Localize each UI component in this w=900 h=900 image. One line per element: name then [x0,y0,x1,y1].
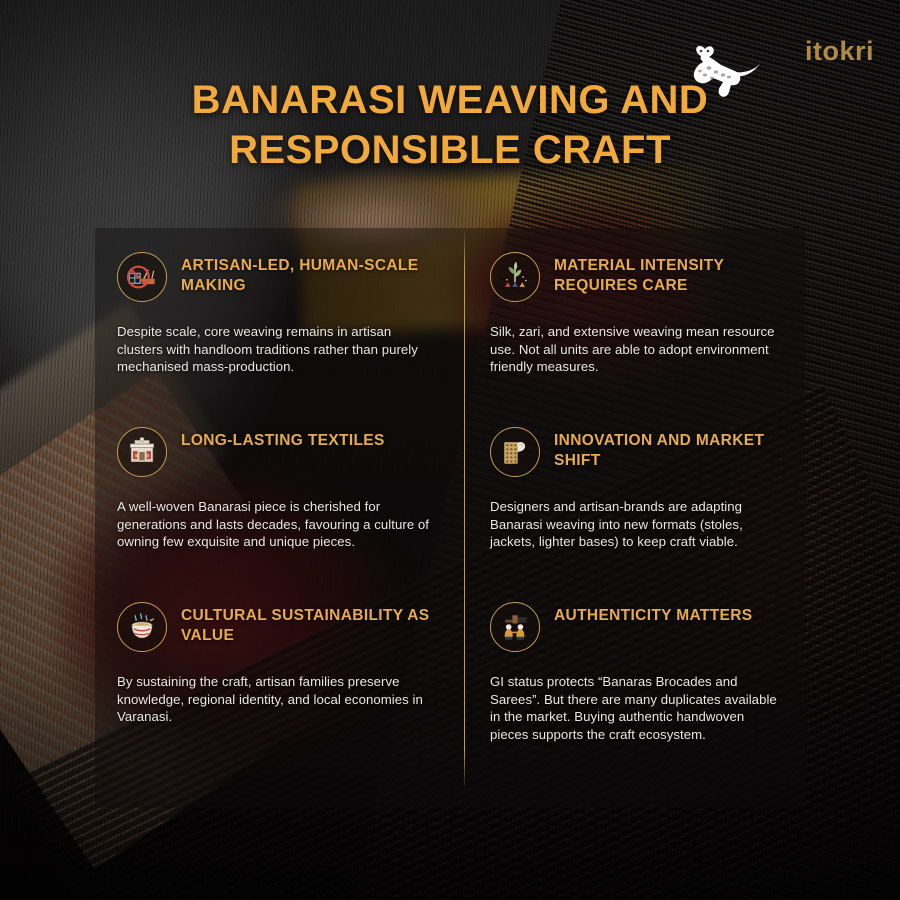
no-machine-loom-icon [117,252,167,302]
card-body: Silk, zari, and extensive weaving mean r… [490,323,779,376]
two-artisans-at-loom-icon [490,602,540,652]
card-title: MATERIAL INTENSITY REQUIRES CARE [554,250,779,296]
card-title: ARTISAN-LED, HUMAN-SCALE MAKING [181,250,438,296]
page-title: BANARASI WEAVING AND RESPONSIBLE CRAFT [0,76,900,175]
cards-grid: ARTISAN-LED, HUMAN-SCALE MAKING Despite … [95,228,805,808]
card-innovation-market-shift: INNOVATION AND MARKET SHIFT Designers an… [464,403,805,578]
brand-logo-text: itokri [764,34,874,68]
card-header: LONG-LASTING TEXTILES [117,425,438,477]
card-artisan-led: ARTISAN-LED, HUMAN-SCALE MAKING Despite … [95,228,464,403]
card-material-intensity: MATERIAL INTENSITY REQUIRES CARE Silk, z… [464,228,805,403]
card-title: CULTURAL SUSTAINABILITY AS VALUE [181,600,438,646]
card-cultural-sustainability: CULTURAL SUSTAINABILITY AS VALUE By sust… [95,578,464,808]
card-header: CULTURAL SUSTAINABILITY AS VALUE [117,600,438,652]
card-long-lasting-textiles: LONG-LASTING TEXTILES A well-woven Banar… [95,403,464,578]
card-title: LONG-LASTING TEXTILES [181,425,385,451]
card-header: INNOVATION AND MARKET SHIFT [490,425,779,477]
card-authenticity-matters: AUTHENTICITY MATTERS GI status protects … [464,578,805,808]
card-header: MATERIAL INTENSITY REQUIRES CARE [490,250,779,302]
card-body: GI status protects “Banaras Brocades and… [490,673,779,743]
heritage-building-icon [117,427,167,477]
card-body: A well-woven Banarasi piece is cherished… [117,498,438,551]
card-body: Designers and artisan-brands are adaptin… [490,498,779,551]
sprouting-plant-icon [490,252,540,302]
card-header: ARTISAN-LED, HUMAN-SCALE MAKING [117,250,438,302]
steaming-pot-icon [117,602,167,652]
patterned-fabric-hand-icon [490,427,540,477]
card-title: AUTHENTICITY MATTERS [554,600,752,626]
card-title: INNOVATION AND MARKET SHIFT [554,425,779,471]
card-header: AUTHENTICITY MATTERS [490,600,779,652]
card-body: By sustaining the craft, artisan familie… [117,673,438,726]
brand-logo[interactable]: itokri [764,34,874,68]
card-body: Despite scale, core weaving remains in a… [117,323,438,376]
